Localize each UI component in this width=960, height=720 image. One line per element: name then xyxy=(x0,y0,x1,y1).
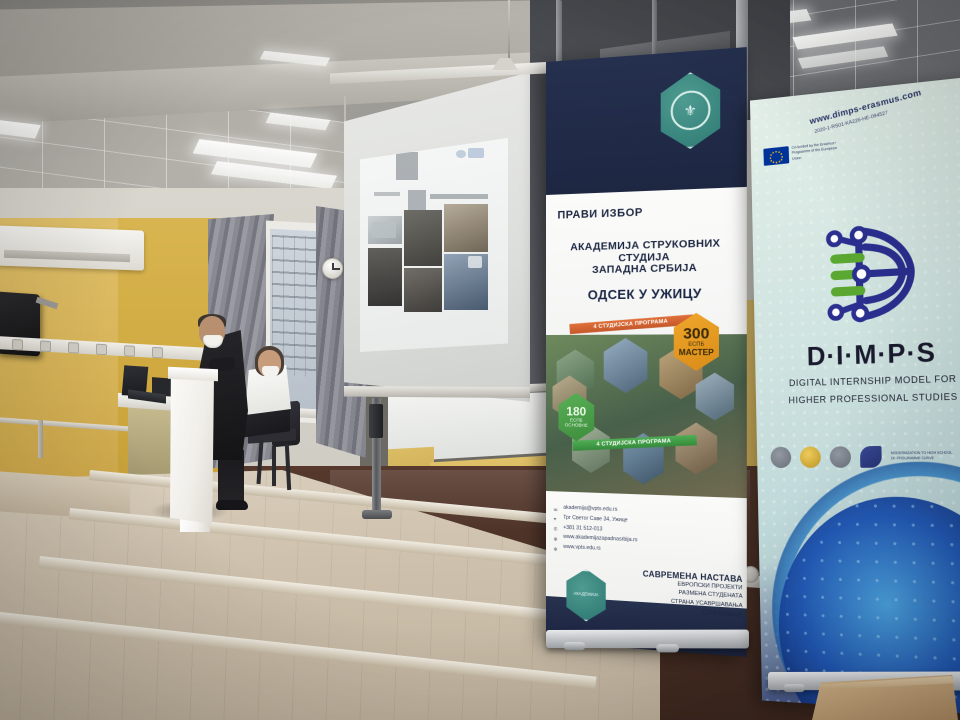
eu-flag-icon xyxy=(763,146,789,166)
banner-line-3: ОДСЕК У УЖИЦУ xyxy=(546,285,747,303)
banner-contact-icons: ✉ ⌖ ✆ ⊕ ⊕ xyxy=(554,505,558,555)
dimps-rollup-banner: www.dimps-erasmus.com 2020-1-RS01-KA226-… xyxy=(750,75,960,716)
screen-suspension-chain xyxy=(508,0,510,66)
lectern-top xyxy=(168,367,218,382)
academy-seal-footer-text: АКАДЕМИЈА xyxy=(574,592,599,598)
slide-logo-small xyxy=(456,150,466,158)
partner-logo-2 xyxy=(800,446,821,467)
badge-master-level: МАСТЕР xyxy=(679,349,714,358)
badge-basic-level: ОСНОВНЕ xyxy=(565,423,588,428)
equipment-stand-bracket xyxy=(369,404,383,438)
power-outlet[interactable] xyxy=(12,339,23,351)
slide-photo xyxy=(404,210,442,266)
banner-footer-block: САВРЕМЕНА НАСТАВА ЕВРОПСКИ ПРОЈЕКТИ РАЗМ… xyxy=(632,568,743,620)
banner-foot xyxy=(656,644,679,652)
air-conditioner xyxy=(0,225,144,270)
slide-photo xyxy=(404,268,442,312)
academy-seal-glyph: ⚜ xyxy=(670,90,710,132)
power-outlet[interactable] xyxy=(68,342,79,354)
lectern-podium xyxy=(170,372,214,524)
partner-logo-1 xyxy=(770,446,791,467)
projection-screen-bottom-bar xyxy=(344,386,530,398)
eu-logo-caption: Co-funded by the Erasmus+ Programme of t… xyxy=(791,140,840,162)
power-outlet[interactable] xyxy=(152,347,163,359)
banner-foot xyxy=(783,684,804,692)
rollup-banner-base xyxy=(546,630,749,649)
slide-heading-text xyxy=(430,194,488,199)
equipment-stand-foot xyxy=(362,510,392,519)
slide-logo-eu xyxy=(468,148,484,158)
projected-slide xyxy=(360,138,508,352)
rail-post xyxy=(38,420,43,458)
dimps-logo-icon xyxy=(816,207,932,337)
power-outlet[interactable] xyxy=(40,340,51,352)
power-outlet[interactable] xyxy=(96,344,107,356)
chair-leg xyxy=(272,446,276,486)
clock-minute-hand xyxy=(332,268,340,270)
partner-logo-3 xyxy=(829,446,851,468)
wall-clock xyxy=(322,258,343,279)
slide-photo xyxy=(444,204,488,252)
power-outlet[interactable] xyxy=(124,345,135,357)
slide-photo xyxy=(368,248,402,306)
slide-logo-center xyxy=(408,190,426,210)
banner-foot xyxy=(564,642,586,650)
banner-contact-block: akademija@vpts.edu.rs Трг Светог Саве 34… xyxy=(563,503,637,556)
collage-hex xyxy=(600,338,651,393)
slide-text-line xyxy=(374,192,400,196)
collage-hex xyxy=(672,422,720,475)
slide-photo-inset xyxy=(468,256,482,268)
slide-photo-inset xyxy=(372,222,396,238)
lecture-hall-photo: ⚜ ПРАВИ ИЗБОР АКАДЕМИЈА СТРУКОВНИХ СТУДИ… xyxy=(0,0,960,720)
projection-screen xyxy=(344,72,530,402)
academy-rollup-banner: ⚜ ПРАВИ ИЗБОР АКАДЕМИЈА СТРУКОВНИХ СТУДИ… xyxy=(546,47,747,657)
badge-master-value: 300 xyxy=(683,326,709,342)
slide-logo-left xyxy=(396,152,418,180)
